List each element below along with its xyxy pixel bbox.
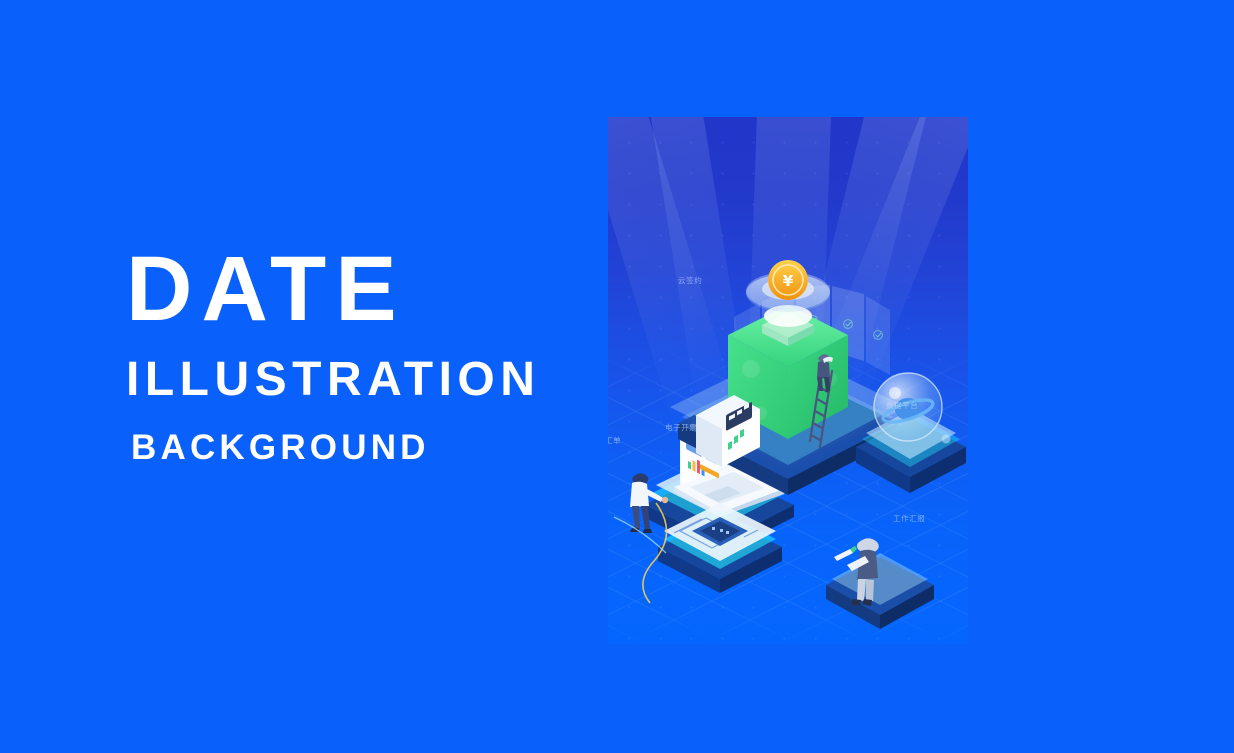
page-tertiary-title: BACKGROUND (131, 430, 566, 465)
label-cloud-signing: 云签约 (678, 275, 702, 286)
gold-coin: ¥ (768, 260, 808, 300)
svg-text:¥: ¥ (783, 272, 794, 290)
label-e-invoice: 电子开票 (665, 422, 697, 433)
illustration-panel: ¥ (608, 117, 968, 644)
page-title: DATE (126, 244, 566, 334)
label-left-edge: 工单 (608, 435, 621, 446)
page-subtitle: ILLUSTRATION (126, 356, 566, 404)
work-platform (826, 553, 934, 629)
page-root: DATE ILLUSTRATION BACKGROUND (0, 0, 1234, 753)
headline-text-block: DATE ILLUSTRATION BACKGROUND (126, 244, 566, 465)
stylus-icon (834, 546, 857, 561)
isometric-artwork: ¥ (608, 117, 968, 644)
label-work-report: 工作汇报 (893, 513, 925, 524)
label-data-platform: 数据平台 (886, 400, 918, 411)
